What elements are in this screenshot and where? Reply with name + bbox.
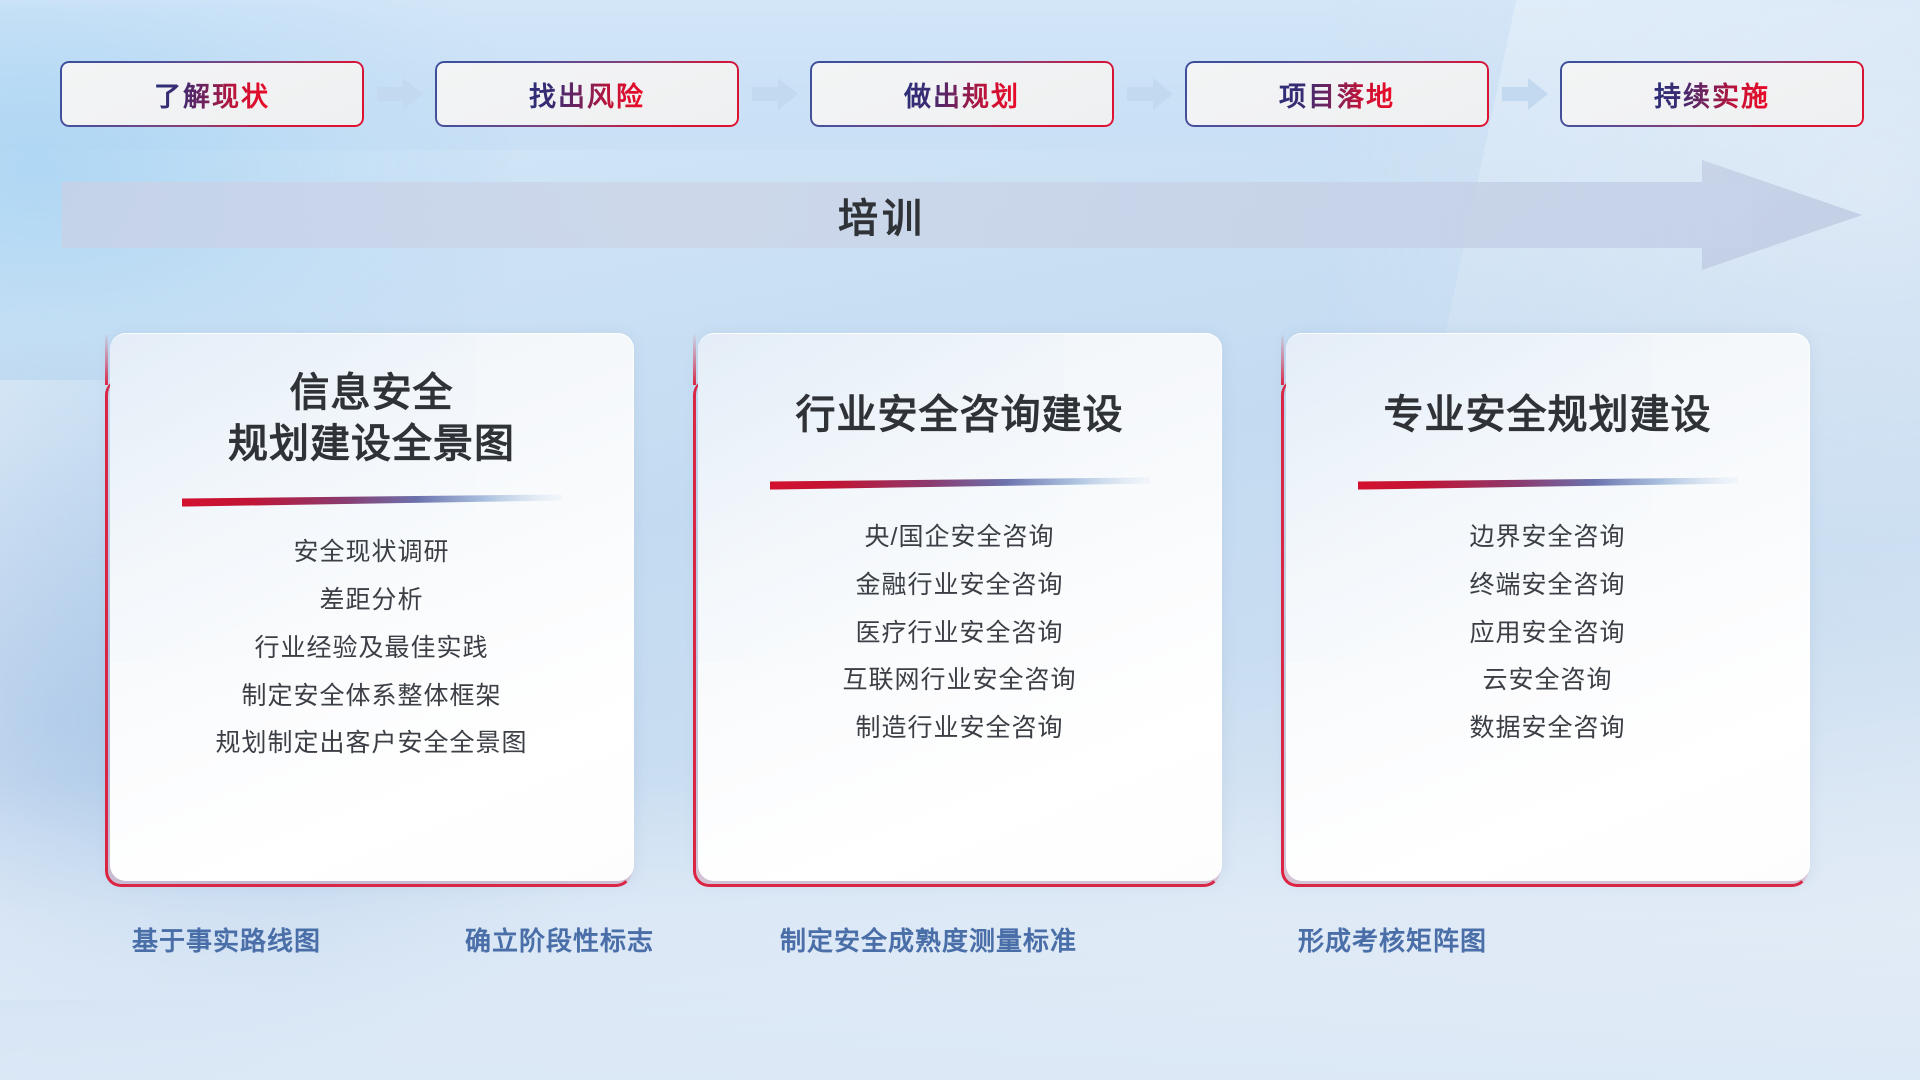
right-block-arrow-icon-2 (747, 63, 803, 125)
card-1-list: 安全现状调研 差距分析 行业经验及最佳实践 制定安全体系整体框架 规划制定出客户… (110, 533, 633, 763)
footer-label-1: 基于事实路线图 (132, 921, 321, 958)
gradient-divider-icon-1 (182, 494, 562, 507)
card-2-body: 行业安全咨询建设 (698, 333, 1222, 881)
footer-label-3: 制定安全成熟度测量标准 (780, 921, 1077, 958)
card-1-body: 信息安全 规划建设全景图 (110, 333, 634, 881)
right-block-arrow-icon-4 (1497, 63, 1553, 125)
card-3-title: 专业安全规划建设 (1286, 390, 1809, 441)
list-item: 数据安全咨询 (1469, 709, 1625, 748)
list-item: 规划制定出客户安全全景图 (215, 724, 527, 763)
step-wrap-4: 项目落地 (1187, 63, 1487, 125)
step-wrap-2: 找出风险 (437, 63, 737, 125)
training-banner: 培训 (62, 160, 1862, 270)
card-1[interactable]: 信息安全 规划建设全景图 (110, 333, 634, 881)
list-item: 应用安全咨询 (1469, 614, 1625, 653)
step-label-5: 持续实施 (1654, 75, 1770, 114)
list-item: 边界安全咨询 (1469, 518, 1625, 557)
list-item: 金融行业安全咨询 (855, 566, 1063, 605)
list-item: 制造行业安全咨询 (855, 709, 1063, 748)
step-wrap-5: 持续实施 (1562, 63, 1862, 125)
right-block-arrow-icon-3 (1122, 63, 1178, 125)
card-row: 信息安全 规划建设全景图 (110, 333, 1810, 881)
training-banner-label: 培训 (62, 160, 1702, 270)
footer-label-2: 确立阶段性标志 (465, 921, 654, 958)
step-pill-5[interactable]: 持续实施 (1562, 63, 1862, 125)
list-item: 医疗行业安全咨询 (855, 614, 1063, 653)
step-label-1: 了解现状 (154, 75, 270, 114)
card-3-list: 边界安全咨询 终端安全咨询 应用安全咨询 云安全咨询 数据安全咨询 (1286, 518, 1809, 748)
list-item: 云安全咨询 (1482, 661, 1612, 700)
list-item: 行业经验及最佳实践 (254, 629, 488, 668)
card-2-list: 央/国企安全咨询 金融行业安全咨询 医疗行业安全咨询 互联网行业安全咨询 制造行… (698, 518, 1221, 748)
step-label-4: 项目落地 (1279, 75, 1395, 114)
footer-label-4: 形成考核矩阵图 (1298, 921, 1487, 958)
list-item: 央/国企安全咨询 (865, 518, 1055, 557)
card-1-title: 信息安全 规划建设全景图 (110, 368, 633, 470)
step-pill-4[interactable]: 项目落地 (1187, 63, 1487, 125)
list-item: 差距分析 (319, 581, 423, 620)
list-item: 互联网行业安全咨询 (842, 661, 1076, 700)
list-item: 安全现状调研 (293, 533, 449, 572)
gradient-divider-icon-3 (1358, 477, 1738, 490)
step-wrap-1: 了解现状 (62, 63, 362, 125)
card-2-title: 行业安全咨询建设 (698, 390, 1221, 441)
step-pill-1[interactable]: 了解现状 (62, 63, 362, 125)
step-pill-3[interactable]: 做出规划 (812, 63, 1112, 125)
step-pill-2[interactable]: 找出风险 (437, 63, 737, 125)
slide-stage: 了解现状 找出风险 做出规划 (0, 0, 1920, 1080)
gradient-divider-icon-2 (770, 477, 1150, 490)
list-item: 制定安全体系整体框架 (241, 677, 501, 716)
right-block-arrow-icon-1 (372, 63, 428, 125)
card-3-body: 专业安全规划建设 (1286, 333, 1810, 881)
list-item: 终端安全咨询 (1469, 566, 1625, 605)
process-step-row: 了解现状 找出风险 做出规划 (62, 63, 1862, 125)
step-wrap-3: 做出规划 (812, 63, 1112, 125)
step-label-2: 找出风险 (529, 75, 645, 114)
footer-label-row: 基于事实路线图 确立阶段性标志 制定安全成熟度测量标准 形成考核矩阵图 (0, 921, 1920, 965)
card-3[interactable]: 专业安全规划建设 (1286, 333, 1810, 881)
card-2[interactable]: 行业安全咨询建设 (698, 333, 1222, 881)
step-label-3: 做出规划 (904, 75, 1020, 114)
